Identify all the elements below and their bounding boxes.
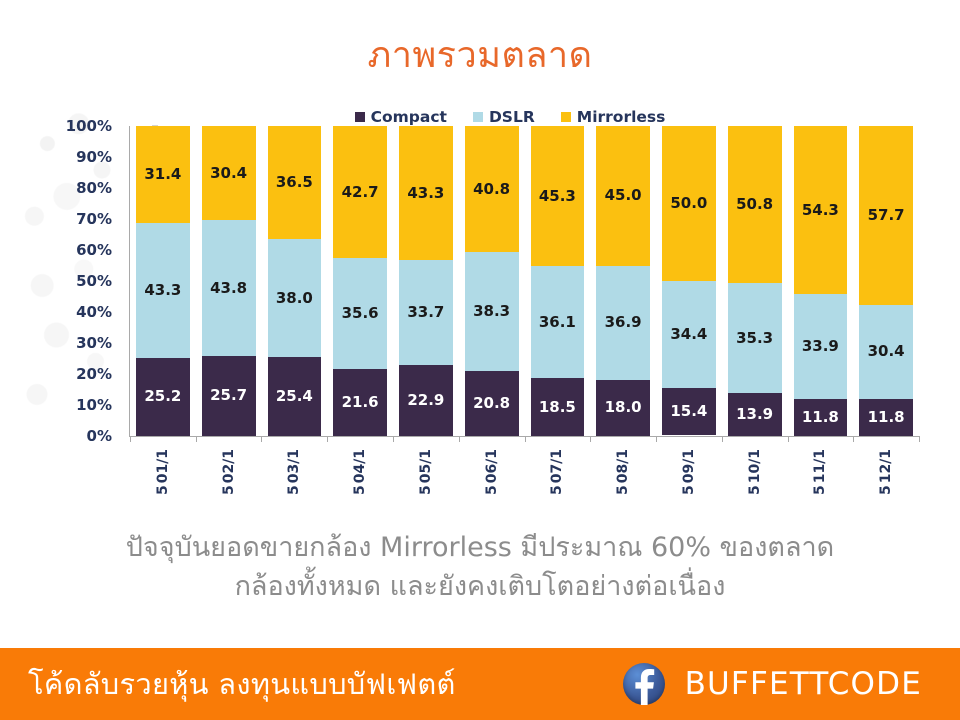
- x-axis-label-line: 06/1: [484, 449, 500, 483]
- bar-column[interactable]: 54.333.911.8: [794, 126, 848, 436]
- bar-segment-mirrorless[interactable]: 43.3: [399, 126, 453, 260]
- legend-swatch-icon: [561, 112, 571, 122]
- x-axis-label-cell: 05/15: [399, 446, 453, 516]
- bar-segment-mirrorless[interactable]: 30.4: [202, 126, 256, 220]
- bar-value-label: 31.4: [144, 167, 181, 182]
- x-axis-label: 10/15: [747, 449, 763, 495]
- x-axis-label-line: 11/1: [812, 449, 828, 483]
- bar-segment-mirrorless[interactable]: 50.0: [662, 126, 716, 281]
- bar-column[interactable]: 45.036.918.0: [596, 126, 650, 436]
- y-axis-tick-label: 0%: [87, 427, 112, 445]
- bar-segment-dslr[interactable]: 35.6: [333, 258, 387, 368]
- bar-segment-dslr[interactable]: 33.9: [794, 294, 848, 399]
- bar-segment-dslr[interactable]: 38.3: [465, 252, 519, 371]
- slide-caption: ปัจจุบันยอดขายกล้อง Mirrorless มีประมาณ …: [0, 528, 960, 606]
- x-axis-tick-mark: [261, 436, 262, 442]
- bar-column[interactable]: 57.730.411.8: [859, 126, 913, 436]
- x-axis-tick-mark: [459, 436, 460, 442]
- y-axis-tick-label: 80%: [76, 179, 112, 197]
- x-axis-label-line: 5: [352, 485, 368, 495]
- bar-value-label: 21.6: [342, 395, 379, 410]
- x-axis-ticks: [130, 436, 919, 444]
- x-axis-label-line: 03/1: [286, 449, 302, 483]
- bar-segment-dslr[interactable]: 35.3: [728, 283, 782, 392]
- x-axis-label-line: 12/1: [878, 449, 894, 483]
- x-axis-label-line: 02/1: [221, 449, 237, 483]
- bar-segment-mirrorless[interactable]: 31.4: [136, 126, 190, 223]
- bar-value-label: 25.2: [144, 389, 181, 404]
- y-axis-tick-label: 10%: [76, 396, 112, 414]
- bar-value-label: 45.3: [539, 189, 576, 204]
- y-axis-tick-label: 30%: [76, 334, 112, 352]
- bar-segment-mirrorless[interactable]: 36.5: [268, 126, 322, 239]
- bar-value-label: 54.3: [802, 203, 839, 218]
- bar-column[interactable]: 36.538.025.4: [268, 126, 322, 436]
- bar-group: 31.443.325.230.443.825.736.538.025.442.7…: [130, 126, 919, 436]
- bar-value-label: 45.0: [605, 188, 642, 203]
- x-axis-label: 08/15: [615, 449, 631, 495]
- bar-value-label: 35.3: [736, 331, 773, 346]
- x-axis-label: 03/15: [286, 449, 302, 495]
- bar-segment-compact[interactable]: 20.8: [465, 371, 519, 435]
- bar-column[interactable]: 43.333.722.9: [399, 126, 453, 436]
- bar-segment-mirrorless[interactable]: 42.7: [333, 126, 387, 258]
- bar-value-label: 30.4: [210, 166, 247, 181]
- bar-value-label: 34.4: [670, 327, 707, 342]
- bar-segment-dslr[interactable]: 43.3: [136, 223, 190, 357]
- bar-segment-compact[interactable]: 22.9: [399, 365, 453, 436]
- x-axis-label: 06/15: [484, 449, 500, 495]
- x-axis-label-line: 5: [615, 485, 631, 495]
- bar-value-label: 22.9: [407, 393, 444, 408]
- x-axis-tick-mark: [327, 436, 328, 442]
- x-axis-tick-mark: [788, 436, 789, 442]
- bar-value-label: 30.4: [868, 344, 905, 359]
- x-axis-label-line: 5: [418, 485, 434, 495]
- bar-segment-mirrorless[interactable]: 45.3: [531, 126, 585, 266]
- plot-area: 100%90%80%70%60%50%40%30%20%10%0% 31.443…: [24, 126, 936, 444]
- x-axis-label-line: 09/1: [681, 449, 697, 483]
- x-axis-label-cell: 09/15: [662, 446, 716, 516]
- x-axis-tick-mark: [525, 436, 526, 442]
- y-axis: 100%90%80%70%60%50%40%30%20%10%0%: [52, 126, 118, 436]
- bar-segment-dslr[interactable]: 38.0: [268, 239, 322, 357]
- y-axis-tick-label: 60%: [76, 241, 112, 259]
- bar-value-label: 15.4: [670, 404, 707, 419]
- x-axis-label-line: 05/1: [418, 449, 434, 483]
- legend-swatch-icon: [355, 112, 365, 122]
- x-axis-label-cell: 07/15: [531, 446, 585, 516]
- bar-value-label: 57.7: [868, 208, 905, 223]
- x-axis-label: 05/15: [418, 449, 434, 495]
- bar-segment-mirrorless[interactable]: 50.8: [728, 126, 782, 283]
- x-axis-tick-mark: [130, 436, 131, 442]
- bar-value-label: 11.8: [868, 410, 905, 425]
- x-axis-tick-mark: [722, 436, 723, 442]
- x-axis-tick-mark: [656, 436, 657, 442]
- x-axis-label-line: 08/1: [615, 449, 631, 483]
- x-axis-label-line: 5: [681, 485, 697, 495]
- x-axis-label-line: 5: [812, 485, 828, 495]
- bar-column[interactable]: 50.034.415.4: [662, 126, 716, 436]
- bar-segment-dslr[interactable]: 36.9: [596, 266, 650, 380]
- x-axis-label-line: 5: [286, 485, 302, 495]
- x-axis-label-line: 5: [549, 485, 565, 495]
- bar-segment-compact[interactable]: 25.4: [268, 357, 322, 436]
- x-axis-label-line: 07/1: [549, 449, 565, 483]
- footer-social[interactable]: BUFFETTCODE: [623, 663, 922, 705]
- x-axis-label: 09/15: [681, 449, 697, 495]
- bar-column[interactable]: 45.336.118.5: [531, 126, 585, 436]
- bar-value-label: 18.5: [539, 400, 576, 415]
- bar-value-label: 18.0: [605, 400, 642, 415]
- bar-value-label: 35.6: [342, 306, 379, 321]
- x-axis-label-cell: 10/15: [728, 446, 782, 516]
- x-axis-label: 02/15: [221, 449, 237, 495]
- legend-item-dslr[interactable]: DSLR: [473, 108, 535, 126]
- bar-segment-compact[interactable]: 11.8: [794, 399, 848, 436]
- y-axis-tick-label: 70%: [76, 210, 112, 228]
- x-axis-tick-mark: [196, 436, 197, 442]
- bar-column[interactable]: 40.838.320.8: [465, 126, 519, 436]
- caption-line-1: ปัจจุบันยอดขายกล้อง Mirrorless มีประมาณ …: [60, 528, 900, 567]
- x-axis-label-cell: 08/15: [596, 446, 650, 516]
- page-title: ภาพรวมตลาด: [0, 36, 960, 76]
- bar-segment-compact[interactable]: 15.4: [662, 388, 716, 436]
- caption-line-2: กล้องทั้งหมด และยังคงเติบโตอย่างต่อเนื่อ…: [60, 567, 900, 606]
- bar-segment-compact[interactable]: 11.8: [859, 399, 913, 436]
- x-axis-label-cell: 03/15: [268, 446, 322, 516]
- bar-segment-dslr[interactable]: 33.7: [399, 260, 453, 364]
- bar-value-label: 33.9: [802, 339, 839, 354]
- x-axis-label: 04/15: [352, 449, 368, 495]
- y-axis-tick-label: 100%: [66, 117, 112, 135]
- bar-segment-compact[interactable]: 25.2: [136, 358, 190, 436]
- bar-segment-compact[interactable]: 25.7: [202, 356, 256, 436]
- bar-segment-dslr[interactable]: 30.4: [859, 305, 913, 399]
- x-axis-label: 12/15: [878, 449, 894, 495]
- x-axis-tick-mark: [919, 436, 920, 442]
- bar-column[interactable]: 42.735.621.6: [333, 126, 387, 436]
- x-axis-labels: 01/1502/1503/1504/1505/1506/1507/1508/15…: [130, 446, 919, 516]
- x-axis-label-line: 10/1: [747, 449, 763, 483]
- x-axis-label-cell: 02/15: [202, 446, 256, 516]
- bar-column[interactable]: 31.443.325.2: [136, 126, 190, 436]
- bar-value-label: 40.8: [473, 182, 510, 197]
- bar-value-label: 42.7: [342, 185, 379, 200]
- x-axis-label: 07/15: [549, 449, 565, 495]
- legend-item-mirrorless[interactable]: Mirrorless: [561, 108, 666, 126]
- bar-segment-compact[interactable]: 21.6: [333, 369, 387, 436]
- legend-item-compact[interactable]: Compact: [355, 108, 447, 126]
- bar-value-label: 50.0: [670, 196, 707, 211]
- x-axis-label-line: 5: [155, 485, 171, 495]
- bar-value-label: 20.8: [473, 396, 510, 411]
- y-axis-tick-label: 40%: [76, 303, 112, 321]
- bar-column[interactable]: 50.835.313.9: [728, 126, 782, 436]
- x-axis-label: 01/15: [155, 449, 171, 495]
- bar-segment-mirrorless[interactable]: 54.3: [794, 126, 848, 294]
- bar-value-label: 43.8: [210, 281, 247, 296]
- x-axis-label-cell: 06/15: [465, 446, 519, 516]
- y-axis-tick-label: 20%: [76, 365, 112, 383]
- x-axis-tick-mark: [393, 436, 394, 442]
- x-axis-tick-mark: [853, 436, 854, 442]
- bar-segment-dslr[interactable]: 36.1: [531, 266, 585, 378]
- chart-legend: CompactDSLRMirrorless: [24, 108, 936, 126]
- bar-value-label: 38.3: [473, 304, 510, 319]
- stacked-bar-chart: CompactDSLRMirrorless 100%90%80%70%60%50…: [24, 104, 936, 504]
- bar-value-label: 25.4: [276, 389, 313, 404]
- x-axis-label-line: 04/1: [352, 449, 368, 483]
- footer-brand-text: โค้ดลับรวยหุ้น ลงทุนแบบบัฟเฟตต์: [28, 661, 456, 707]
- x-axis-label-line: 5: [484, 485, 500, 495]
- legend-label: DSLR: [489, 108, 535, 126]
- bar-segment-compact[interactable]: 18.5: [531, 378, 585, 435]
- bar-segment-compact[interactable]: 13.9: [728, 393, 782, 436]
- bar-value-label: 43.3: [144, 283, 181, 298]
- x-axis-label-line: 5: [747, 485, 763, 495]
- x-axis-label-cell: 12/15: [859, 446, 913, 516]
- bar-segment-compact[interactable]: 18.0: [596, 380, 650, 436]
- bar-column[interactable]: 30.443.825.7: [202, 126, 256, 436]
- bar-value-label: 36.1: [539, 315, 576, 330]
- x-axis-label: 11/15: [812, 449, 828, 495]
- y-axis-tick-label: 50%: [76, 272, 112, 290]
- bar-value-label: 43.3: [407, 186, 444, 201]
- facebook-icon[interactable]: [623, 663, 665, 705]
- x-axis-label-cell: 01/15: [136, 446, 190, 516]
- bar-segment-mirrorless[interactable]: 57.7: [859, 126, 913, 305]
- bar-value-label: 36.5: [276, 175, 313, 190]
- bar-value-label: 50.8: [736, 197, 773, 212]
- legend-label: Compact: [371, 108, 447, 126]
- bar-value-label: 11.8: [802, 410, 839, 425]
- footer-bar: โค้ดลับรวยหุ้น ลงทุนแบบบัฟเฟตต์ BUFFETTC…: [0, 648, 960, 720]
- bar-value-label: 38.0: [276, 291, 313, 306]
- bar-value-label: 33.7: [407, 305, 444, 320]
- x-axis-label-cell: 04/15: [333, 446, 387, 516]
- bar-segment-mirrorless[interactable]: 40.8: [465, 126, 519, 252]
- legend-label: Mirrorless: [577, 108, 666, 126]
- bar-segment-mirrorless[interactable]: 45.0: [596, 126, 650, 266]
- x-axis-tick-mark: [590, 436, 591, 442]
- bar-value-label: 13.9: [736, 407, 773, 422]
- footer-page-name: BUFFETTCODE: [685, 666, 922, 702]
- bar-segment-dslr[interactable]: 34.4: [662, 281, 716, 388]
- legend-swatch-icon: [473, 112, 483, 122]
- x-axis-label-line: 5: [878, 485, 894, 495]
- bar-segment-dslr[interactable]: 43.8: [202, 220, 256, 356]
- x-axis-label-line: 5: [221, 485, 237, 495]
- y-axis-tick-label: 90%: [76, 148, 112, 166]
- x-axis-label-line: 01/1: [155, 449, 171, 483]
- x-axis-label-cell: 11/15: [794, 446, 848, 516]
- bar-value-label: 36.9: [605, 315, 642, 330]
- bar-value-label: 25.7: [210, 388, 247, 403]
